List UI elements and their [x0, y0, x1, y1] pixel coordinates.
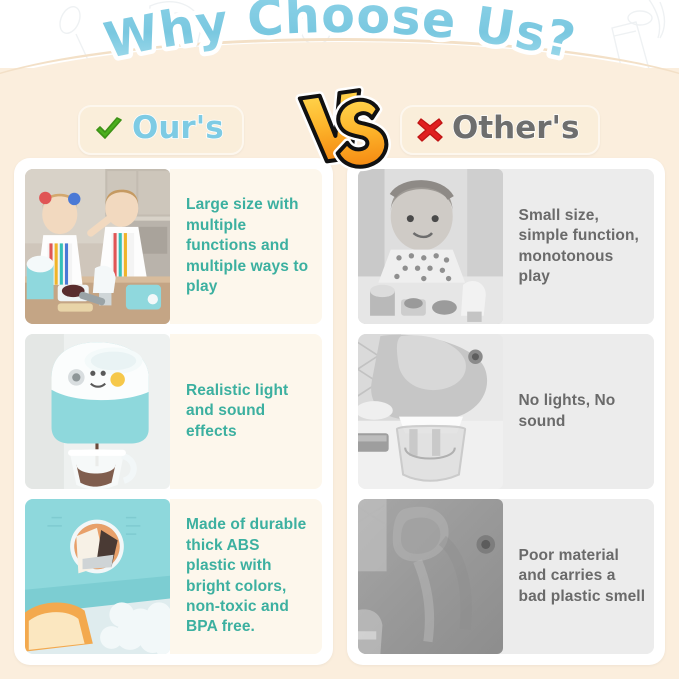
ours-label: Our's	[132, 113, 224, 147]
others-row-3-image	[358, 499, 503, 654]
ours-row-1-image	[25, 169, 170, 324]
others-row-3-text: Poor material and carries a bad plastic …	[503, 499, 655, 654]
ours-row-3-text: Made of durable thick ABS plastic with b…	[170, 499, 322, 654]
ours-row-2-text: Realistic light and sound effects	[170, 334, 322, 489]
svg-text:Why Choose Us?: Why Choose Us?	[99, 0, 580, 70]
ours-badge[interactable]: Our's	[78, 105, 244, 155]
others-label: Other's	[452, 113, 580, 147]
others-row-2-text: No lights, No sound	[503, 334, 655, 489]
ours-row-2: Realistic light and sound effects	[25, 334, 322, 489]
ours-row-1: Large size with multiple functions and m…	[25, 169, 322, 324]
others-badge[interactable]: Other's	[400, 105, 600, 155]
ours-row-3: Made of durable thick ABS plastic with b…	[25, 499, 322, 654]
others-row-1: Small size, simple function, monotonous …	[358, 169, 655, 324]
comparison-panels: Large size with multiple functions and m…	[14, 158, 665, 665]
others-panel: Small size, simple function, monotonous …	[347, 158, 666, 665]
ours-row-2-image	[25, 334, 170, 489]
ours-panel: Large size with multiple functions and m…	[14, 158, 333, 665]
ours-row-3-image	[25, 499, 170, 654]
others-row-2: No lights, No sound	[358, 334, 655, 489]
others-row-2-image	[358, 334, 503, 489]
vs-badge: VS	[294, 84, 392, 180]
others-row-3: Poor material and carries a bad plastic …	[358, 499, 655, 654]
page-title: Why Choose Us? Why Choose Us?	[0, 10, 679, 80]
cross-icon	[416, 117, 444, 143]
page-title-text: Why Choose Us?	[99, 0, 580, 70]
others-row-1-text: Small size, simple function, monotonous …	[503, 169, 655, 324]
check-icon	[94, 117, 124, 143]
ours-row-1-text: Large size with multiple functions and m…	[170, 169, 322, 324]
others-row-1-image	[358, 169, 503, 324]
